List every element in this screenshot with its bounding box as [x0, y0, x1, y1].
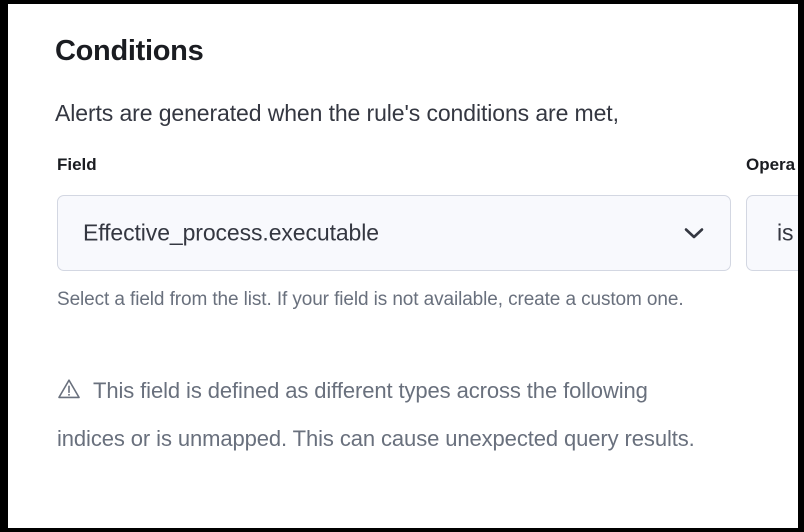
operator-label: Opera — [746, 155, 795, 175]
field-helper-text: Select a field from the list. If your fi… — [57, 284, 697, 315]
field-warning: This field is defined as different types… — [57, 367, 717, 463]
panel-description: Alerts are generated when the rule's con… — [55, 100, 619, 127]
field-select-value: Effective_process.executable — [83, 220, 379, 247]
operator-select[interactable]: is — [746, 195, 802, 271]
conditions-panel: Conditions Alerts are generated when the… — [8, 4, 802, 530]
field-label: Field — [57, 155, 97, 175]
field-warning-text: This field is defined as different types… — [57, 378, 695, 451]
page-title: Conditions — [55, 35, 203, 68]
operator-select-value: is — [777, 220, 793, 247]
chevron-down-icon[interactable] — [680, 219, 708, 247]
field-select[interactable]: Effective_process.executable — [57, 195, 731, 271]
warning-triangle-icon — [57, 377, 81, 401]
screenshot-frame: Conditions Alerts are generated when the… — [0, 0, 804, 532]
